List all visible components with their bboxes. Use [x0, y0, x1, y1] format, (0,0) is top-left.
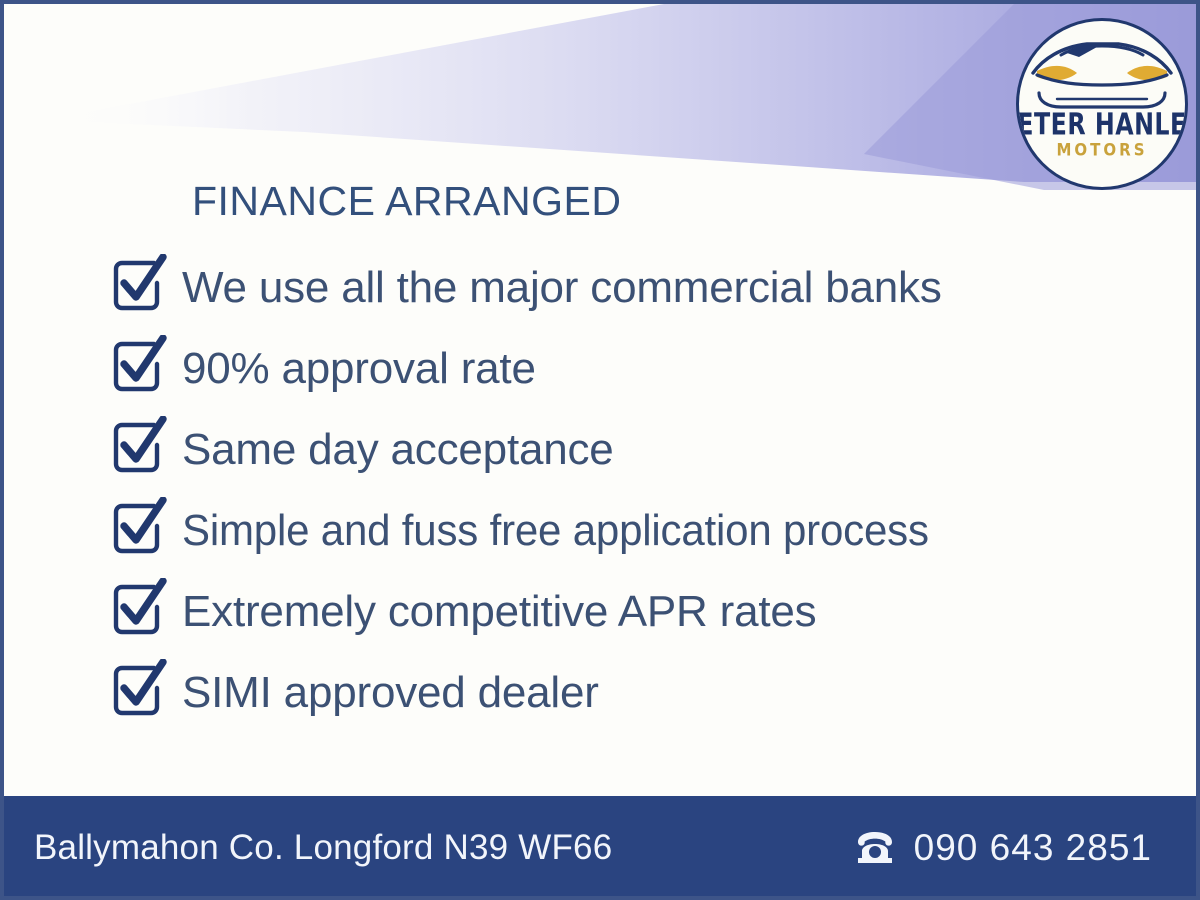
list-item-label: SIMI approved dealer — [182, 671, 599, 715]
footer-phone[interactable]: 090 643 2851 — [854, 827, 1152, 869]
footer-address: Ballymahon Co. Longford N39 WF66 — [34, 828, 612, 868]
telephone-icon — [854, 831, 896, 865]
list-item-label: We use all the major commercial banks — [182, 266, 942, 310]
checkbox-checked-icon — [108, 416, 170, 478]
checkbox-checked-icon — [108, 659, 170, 721]
list-item: Extremely competitive APR rates — [108, 571, 1108, 652]
list-item-label: Same day acceptance — [182, 428, 614, 472]
car-front-icon — [1027, 35, 1177, 111]
footer-phone-number: 090 643 2851 — [914, 827, 1152, 869]
page-title: FINANCE ARRANGED — [192, 178, 621, 225]
list-item: SIMI approved dealer — [108, 652, 1108, 733]
checkbox-checked-icon — [108, 335, 170, 397]
logo-brand-subtitle: MOTORS — [1056, 142, 1147, 159]
feature-list: We use all the major commercial banks 90… — [108, 247, 1108, 733]
list-item: 90% approval rate — [108, 328, 1108, 409]
checkbox-checked-icon — [108, 254, 170, 316]
list-item: Same day acceptance — [108, 409, 1108, 490]
list-item: We use all the major commercial banks — [108, 247, 1108, 328]
footer-bar: Ballymahon Co. Longford N39 WF66 090 643… — [0, 796, 1200, 900]
checkbox-checked-icon — [108, 497, 170, 559]
brand-logo-badge: PETER HANLEY MOTORS — [1016, 18, 1188, 190]
list-item-label: Simple and fuss free application process — [182, 509, 929, 553]
finance-arranged-poster: PETER HANLEY MOTORS FINANCE ARRANGED We … — [0, 0, 1200, 900]
list-item-label: Extremely competitive APR rates — [182, 590, 816, 634]
checkbox-checked-icon — [108, 578, 170, 640]
list-item: Simple and fuss free application process — [108, 490, 1108, 571]
list-item-label: 90% approval rate — [182, 347, 536, 391]
logo-brand-name: PETER HANLEY — [1016, 109, 1188, 140]
